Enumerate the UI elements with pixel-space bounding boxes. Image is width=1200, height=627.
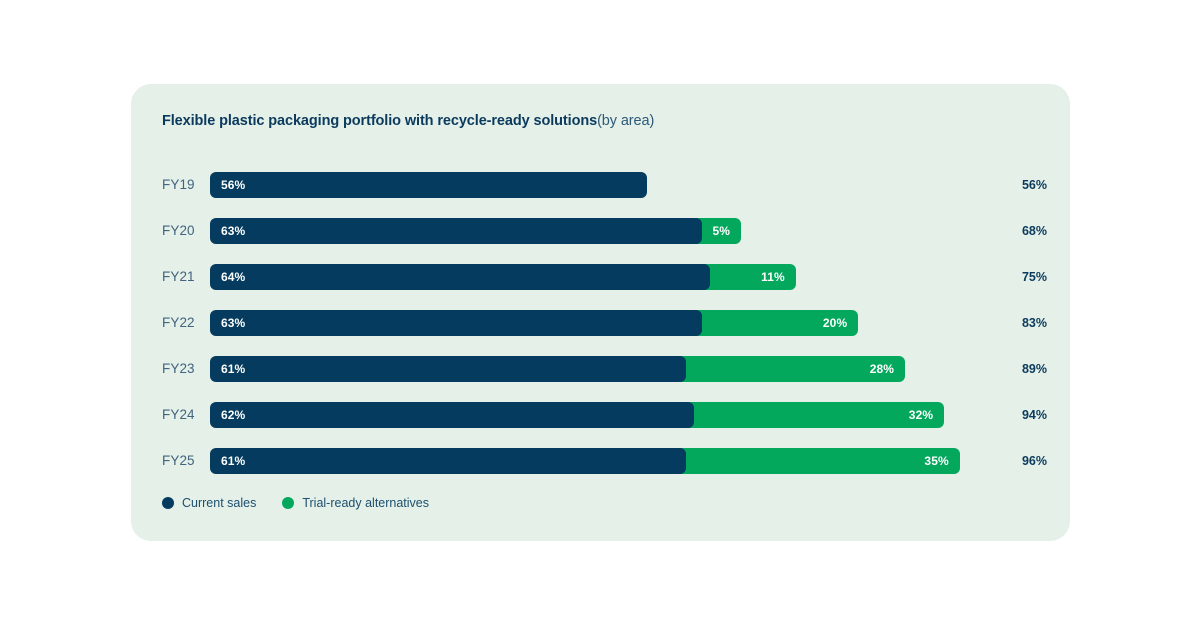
bar-value-trial-ready: 35%	[924, 448, 948, 474]
bar-track: 11%64%	[210, 264, 1070, 290]
bar-value-current-sales: 63%	[221, 310, 245, 336]
chart-legend: Current salesTrial-ready alternatives	[162, 492, 429, 514]
bar-segment-trial-ready[interactable]: 20%	[686, 310, 858, 336]
bar-value-trial-ready: 32%	[909, 402, 933, 428]
chart-row: FY2111%64%75%	[131, 264, 1070, 290]
bar-track: 20%63%	[210, 310, 1070, 336]
bar-value-current-sales: 56%	[221, 172, 245, 198]
bar-segment-trial-ready[interactable]: 32%	[679, 402, 945, 428]
legend-swatch-icon	[282, 497, 294, 509]
chart-row: FY2535%61%96%	[131, 448, 1070, 474]
legend-item-trial-ready-alternatives[interactable]: Trial-ready alternatives	[282, 492, 429, 514]
bar-value-current-sales: 62%	[221, 402, 245, 428]
bar-segment-current-sales[interactable]: 63%	[210, 218, 702, 244]
bar-segment-current-sales[interactable]: 64%	[210, 264, 710, 290]
bar-segment-current-sales[interactable]: 61%	[210, 448, 686, 474]
chart-row: FY1956%56%	[131, 172, 1070, 198]
chart-row: FY205%63%68%	[131, 218, 1070, 244]
row-total-fy19: 56%	[991, 172, 1047, 198]
bar-track: 56%	[210, 172, 1070, 198]
bar-value-current-sales: 61%	[221, 356, 245, 382]
bar-segment-trial-ready[interactable]: 35%	[671, 448, 960, 474]
row-total-fy24: 94%	[991, 402, 1047, 428]
row-total-fy21: 75%	[991, 264, 1047, 290]
legend-swatch-icon	[162, 497, 174, 509]
bar-value-trial-ready: 11%	[761, 264, 785, 290]
chart-row: FY2432%62%94%	[131, 402, 1070, 428]
row-total-fy20: 68%	[991, 218, 1047, 244]
bar-chart-plot: FY1956%56%FY205%63%68%FY2111%64%75%FY222…	[131, 84, 1070, 541]
chart-row: FY2220%63%83%	[131, 310, 1070, 336]
bar-track: 28%61%	[210, 356, 1070, 382]
bar-value-trial-ready: 20%	[823, 310, 847, 336]
row-total-fy22: 83%	[991, 310, 1047, 336]
legend-label: Trial-ready alternatives	[302, 496, 429, 510]
bar-value-current-sales: 63%	[221, 218, 245, 244]
row-total-fy23: 89%	[991, 356, 1047, 382]
bar-segment-current-sales[interactable]: 62%	[210, 402, 694, 428]
bar-value-current-sales: 61%	[221, 448, 245, 474]
bar-segment-trial-ready[interactable]: 28%	[671, 356, 905, 382]
bar-segment-current-sales[interactable]: 63%	[210, 310, 702, 336]
legend-label: Current sales	[182, 496, 256, 510]
bar-segment-current-sales[interactable]: 61%	[210, 356, 686, 382]
bar-value-trial-ready: 5%	[713, 218, 731, 244]
bar-track: 35%61%	[210, 448, 1070, 474]
bar-track: 32%62%	[210, 402, 1070, 428]
bar-segment-current-sales[interactable]: 56%	[210, 172, 647, 198]
row-total-fy25: 96%	[991, 448, 1047, 474]
chart-card: Flexible plastic packaging portfolio wit…	[131, 84, 1070, 541]
bar-value-current-sales: 64%	[221, 264, 245, 290]
bar-value-trial-ready: 28%	[870, 356, 894, 382]
bar-track: 5%63%	[210, 218, 1070, 244]
chart-row: FY2328%61%89%	[131, 356, 1070, 382]
legend-item-current-sales[interactable]: Current sales	[162, 492, 256, 514]
